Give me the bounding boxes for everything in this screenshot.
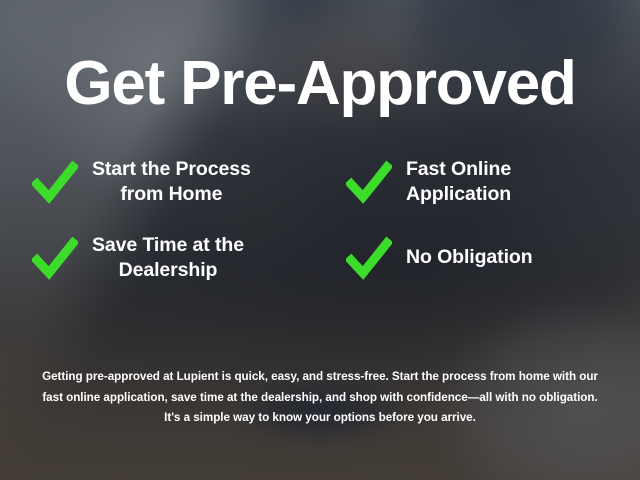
feature-item-save-time-at-the-dealership: Save Time at the Dealership [20,233,340,283]
feature-list: Start the Process from Home Fast Online … [20,157,620,283]
feature-item-no-obligation: No Obligation [340,233,620,283]
feature-item-fast-online-application: Fast Online Application [340,157,620,207]
feature-label: Save Time at the Dealership [92,233,244,283]
checkmark-icon [32,236,78,280]
promo-banner: Get Pre-Approved Start the Process from … [0,0,640,480]
checkmark-icon [346,160,392,204]
checkmark-icon [32,160,78,204]
feature-item-start-the-process: Start the Process from Home [20,157,340,207]
body-paragraph: Getting pre-approved at Lupient is quick… [42,367,598,429]
page-title: Get Pre-Approved [64,53,575,115]
checkmark-icon [346,236,392,280]
feature-label: Start the Process from Home [92,157,251,207]
banner-content: Get Pre-Approved Start the Process from … [0,0,640,480]
feature-label: Fast Online Application [406,157,511,207]
feature-label: No Obligation [406,245,533,270]
